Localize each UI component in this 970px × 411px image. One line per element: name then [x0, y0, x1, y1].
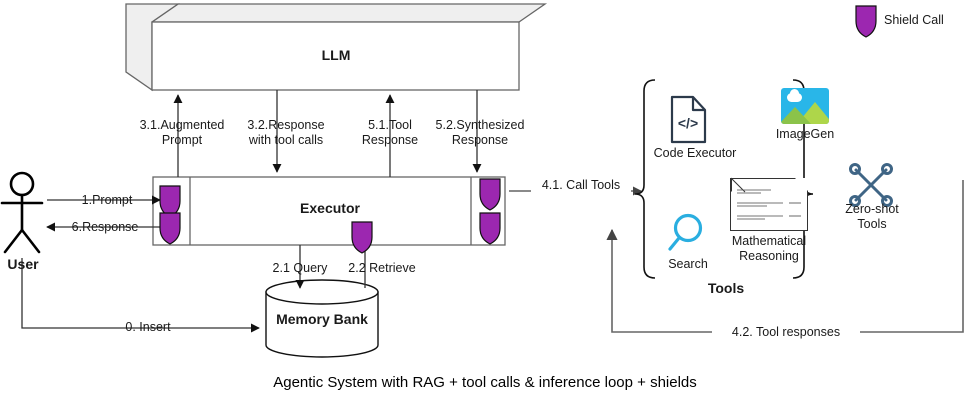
edge-label-response: 6.Response	[48, 220, 162, 234]
edge-label-synthesized-line2: Response	[424, 133, 536, 147]
edge-insert	[22, 258, 259, 328]
executor-label: Executor	[264, 201, 396, 215]
code-file-icon: </>	[672, 97, 705, 142]
tool-label-search: Search	[658, 257, 718, 272]
edge-label-synthesized-line1: 5.2.Synthesized	[424, 118, 536, 132]
figure-caption: Agentic System with RAG + tool calls & i…	[0, 374, 970, 391]
edge-label-prompt: 1.Prompt	[52, 193, 162, 207]
llm-label: LLM	[270, 48, 402, 62]
tool-label-mathematical-reasoning-line2: Reasoning	[722, 249, 816, 264]
shield-icon-executor-memory	[352, 222, 372, 253]
tool-label-zero-shot-tools-line2: Tools	[836, 217, 908, 232]
edge-label-tool-responses: 4.2. Tool responses	[712, 325, 860, 339]
tool-label-mathematical-reasoning-line1: Mathematical	[722, 234, 816, 249]
user-label: User	[0, 257, 46, 271]
math-document-icon	[730, 178, 808, 231]
edge-label-retrieve: 2.2 Retrieve	[332, 261, 432, 275]
edge-label-response-tool-calls-line1: 3.2.Response	[232, 118, 340, 132]
math-formula-lines	[731, 179, 807, 230]
edge-label-tool-response-line1: 5.1.Tool	[344, 118, 436, 132]
edge-label-augmented-prompt-line2: Prompt	[132, 133, 232, 147]
shield-icon-legend	[856, 6, 876, 37]
tools-group-label: Tools	[684, 281, 768, 295]
user-figure	[2, 173, 42, 252]
edge-label-query: 2.1 Query	[256, 261, 344, 275]
tool-label-imagegen: ImageGen	[765, 127, 845, 142]
memory-bank-label: Memory Bank	[262, 312, 382, 326]
edge-label-augmented-prompt-line1: 3.1.Augmented	[132, 118, 232, 132]
magnifier-icon	[670, 216, 701, 250]
tool-label-code-executor: Code Executor	[648, 146, 742, 161]
crossed-tools-icon	[851, 165, 892, 206]
svg-text:</>: </>	[678, 115, 698, 131]
legend-label: Shield Call	[884, 13, 964, 27]
tool-label-zero-shot-tools-line1: Zero-shot	[836, 202, 908, 217]
edge-label-call-tools: 4.1. Call Tools	[531, 178, 631, 192]
image-icon	[781, 88, 829, 124]
edge-label-insert: 0. Insert	[58, 320, 238, 334]
edge-label-tool-response-line2: Response	[344, 133, 436, 147]
edge-label-response-tool-calls-line2: with tool calls	[232, 133, 340, 147]
